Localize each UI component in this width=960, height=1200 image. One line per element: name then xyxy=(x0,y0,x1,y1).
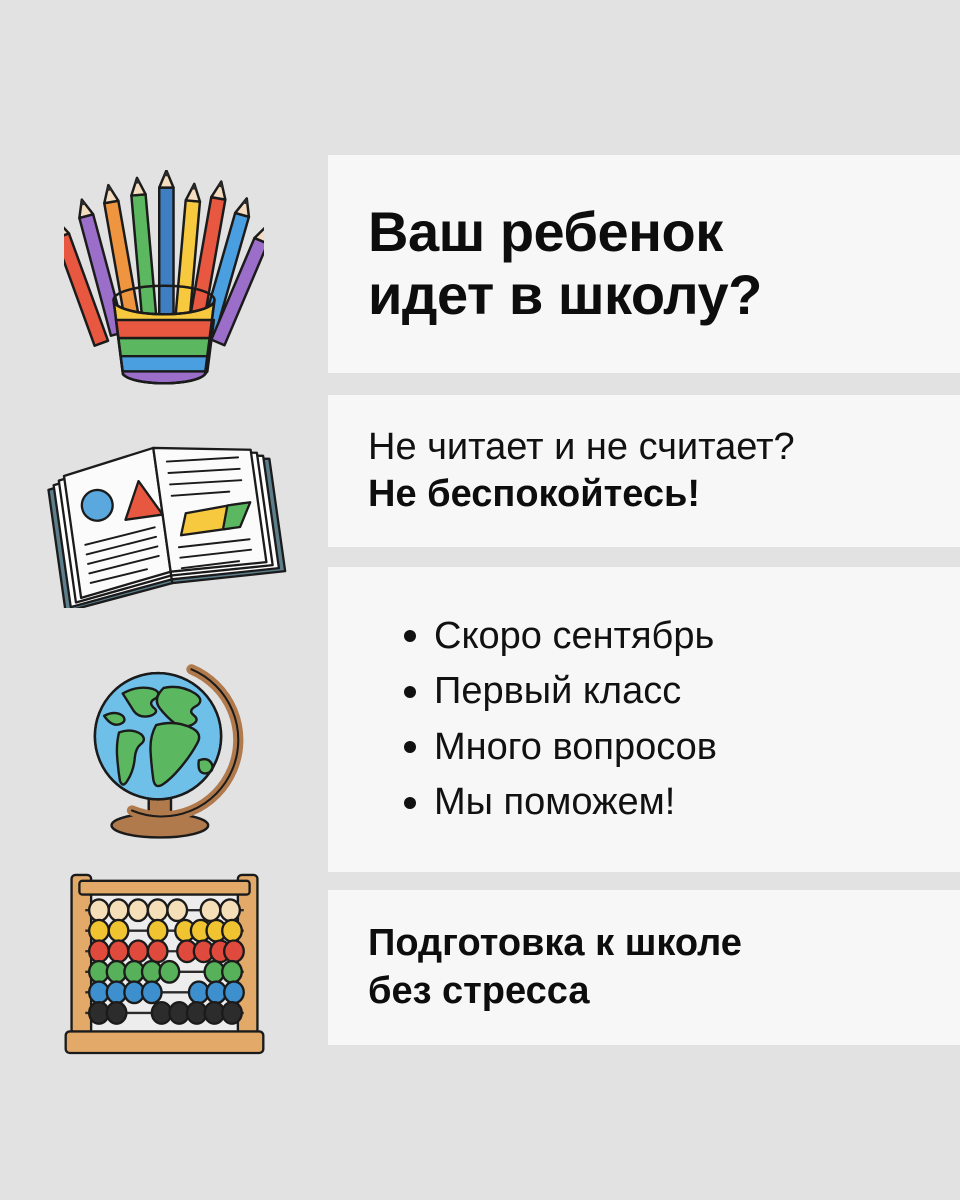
bullet-panel: Скоро сентябрь Первый класс Много вопрос… xyxy=(328,567,960,872)
subtitle-line-2: Не беспокойтесь! xyxy=(368,471,920,519)
illustration-abacus xyxy=(0,858,328,1068)
list-item: Много вопросов xyxy=(404,720,920,775)
illustration-book xyxy=(0,400,328,620)
illustration-pencils xyxy=(0,155,328,405)
illustration-globe xyxy=(0,625,328,865)
list-item: Мы поможем! xyxy=(404,775,920,830)
list-item: Скоро сентябрь xyxy=(404,609,920,664)
footer-line-1: Подготовка к школе xyxy=(368,920,920,968)
subtitle-line-1: Не читает и не считает? xyxy=(368,424,920,472)
poster-canvas: Ваш ребенок идет в школу? Не читает и не… xyxy=(0,0,960,1200)
abacus-icon xyxy=(52,865,277,1061)
subtitle-panel: Не читает и не считает? Не беспокойтесь! xyxy=(328,395,960,547)
open-book-icon xyxy=(39,413,289,608)
bullet-list: Скоро сентябрь Первый класс Много вопрос… xyxy=(368,609,920,831)
colored-pencils-in-cup-icon xyxy=(64,170,264,390)
list-item: Первый класс xyxy=(404,664,920,719)
footer-line-2: без стресса xyxy=(368,968,920,1016)
footer-panel: Подготовка к школе без стресса xyxy=(328,890,960,1045)
globe-icon xyxy=(67,643,262,848)
title-panel: Ваш ребенок идет в школу? xyxy=(328,155,960,373)
page-title-line-1: Ваш ребенок xyxy=(368,201,920,264)
page-title-line-2: идет в школу? xyxy=(368,264,920,327)
